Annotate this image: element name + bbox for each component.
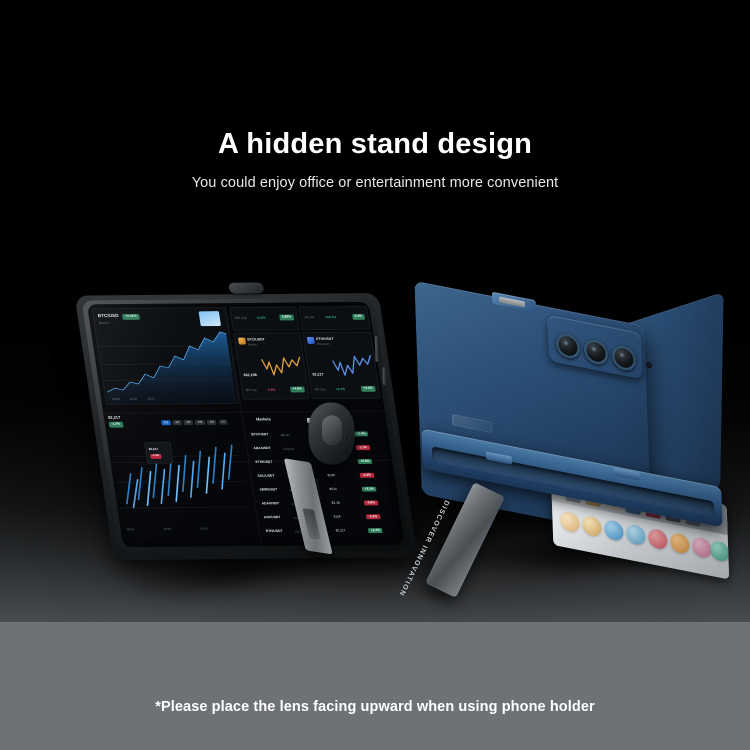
footer-band (0, 622, 750, 750)
page-subtitle: You could enjoy office or entertainment … (0, 175, 750, 191)
footer-disclaimer: *Please place the lens facing upward whe… (0, 699, 750, 715)
page-title: A hidden stand design (0, 128, 750, 161)
product-marketing-banner: BTC/USD +2.41% Bitcoin (0, 0, 750, 750)
